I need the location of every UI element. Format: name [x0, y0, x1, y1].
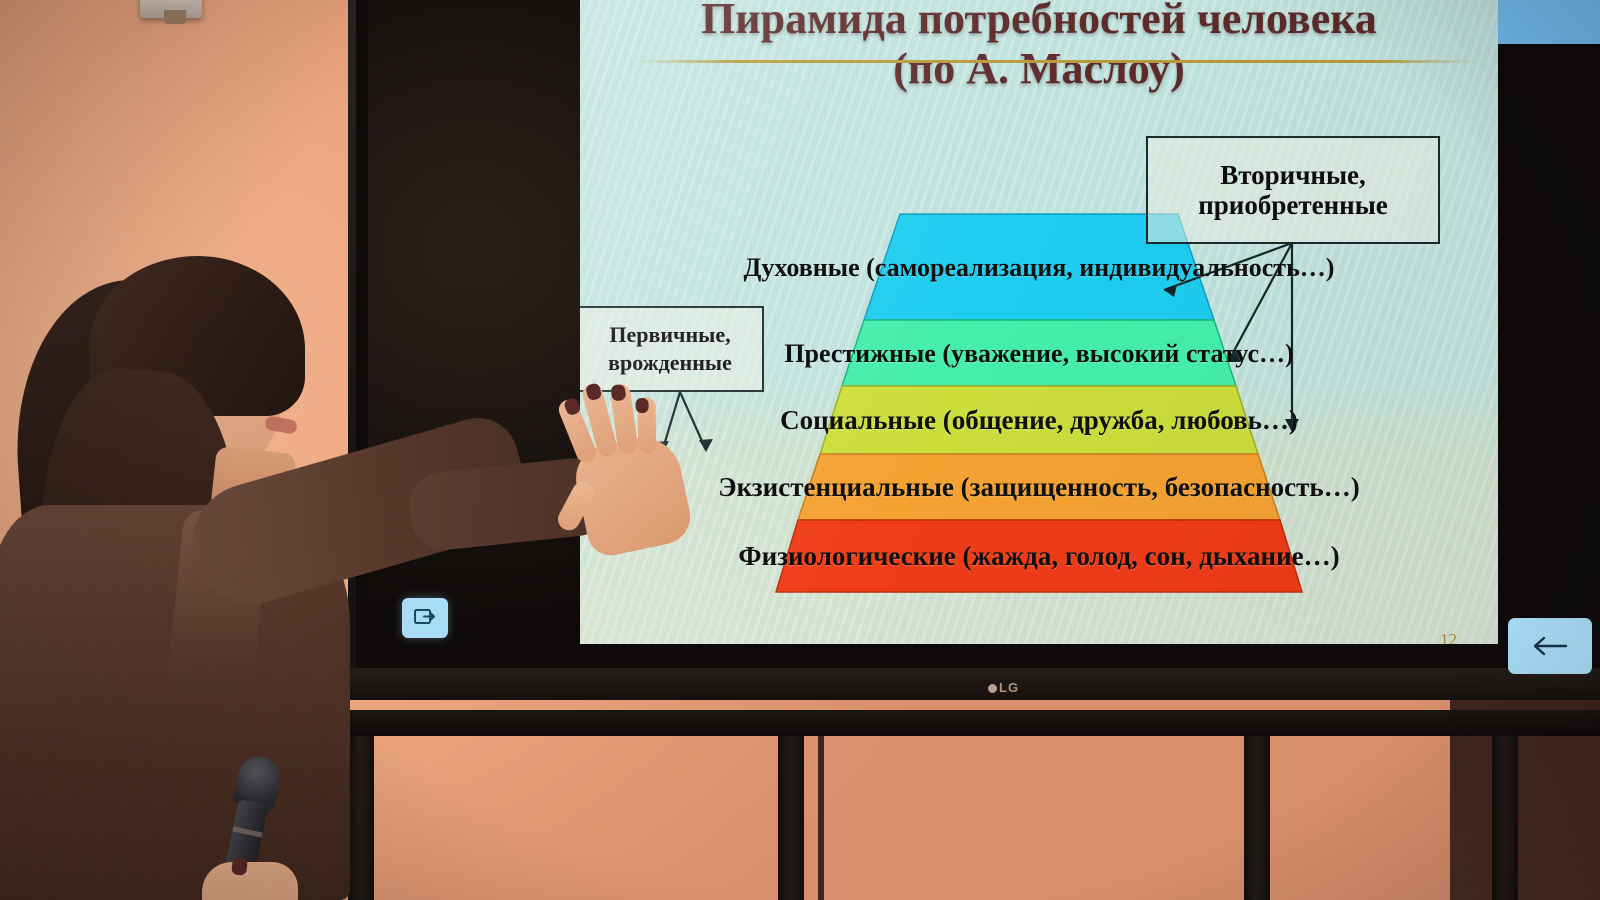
presenter: [0, 250, 400, 900]
stand-leg-left: [778, 736, 804, 900]
nail-4: [635, 398, 648, 413]
bezel-bottom: [348, 668, 1600, 700]
stand-leg-right: [1244, 736, 1270, 900]
back-arrow-button[interactable]: [1508, 618, 1592, 674]
top-blue-strip: [1498, 0, 1600, 44]
stand-leg-far-right: [1492, 736, 1518, 900]
back-arrow-icon: [1530, 633, 1570, 659]
classroom-photo: LG Пирамида потребностей человека (по А.…: [0, 0, 1600, 900]
presentation-slide[interactable]: Пирамида потребностей человека (по А. Ма…: [580, 0, 1498, 644]
wall-lamp-icon: [140, 0, 202, 18]
lg-logo-dot: [988, 684, 997, 693]
lg-logo: LG: [988, 680, 1019, 695]
stand-panel-gap: [818, 736, 824, 900]
screen-share-button[interactable]: [402, 598, 448, 638]
nail-5: [231, 857, 248, 875]
presenter-hand-holding-mic: [202, 862, 298, 900]
display-stand-rail: [348, 710, 1600, 736]
screen-share-icon: [411, 606, 439, 630]
